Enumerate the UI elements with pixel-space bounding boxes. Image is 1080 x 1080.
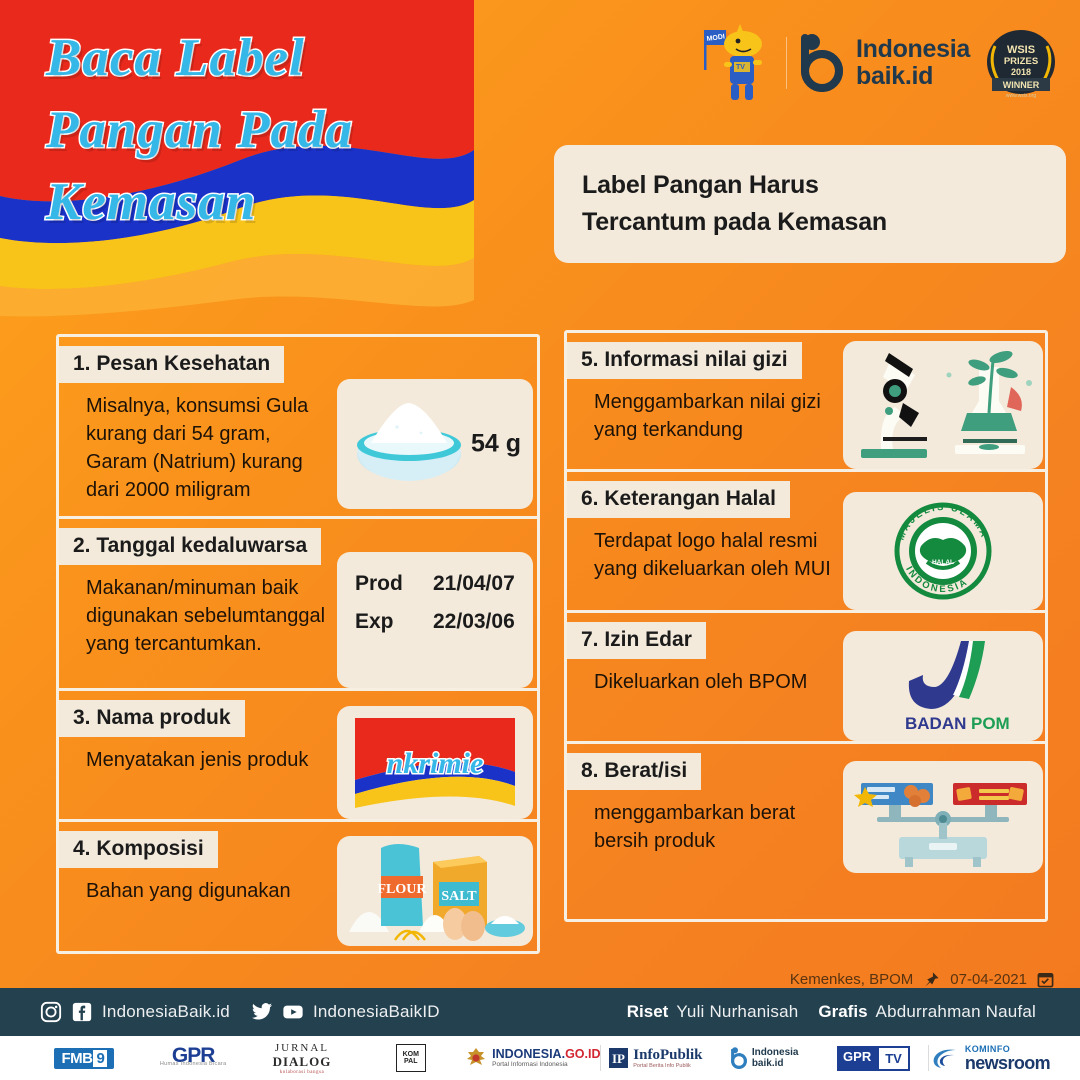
indonesiabaik-b-icon [801,33,847,93]
gpr-tagline: Humas Indonesia Bicara [160,1061,227,1067]
partner-kominfo-newsroom[interactable]: KOMINFO newsroom [929,1041,1050,1075]
exp-label: Exp [355,610,433,634]
item-3-text: 3. Nama produk Menyatakan jenis produk [59,691,337,819]
indonesiabaik-wordmark: Indonesia baik.id [856,36,970,90]
modi-mascot-icon: MODI TV DIGITAL [700,22,772,104]
item-6-chip: 6. Keterangan Halal [567,481,790,518]
item-4-text: 4. Komposisi Bahan yang digunakan [59,822,337,946]
list-item-7: 7. Izin Edar Dikeluarkan oleh BPOM BADAN… [567,610,1045,741]
badan-pom-text-1: BADAN [905,714,966,733]
item-8-text: 8. Berat/isi menggambarkan berat bersih … [567,744,843,873]
infographic-poster: Baca Label Pangan Pada Kemasan MODI TV D… [0,0,1080,1080]
social-handle-1: IndonesiaBaik.id [102,1002,230,1022]
partner-kompal[interactable]: KOM PAL [356,1041,465,1075]
title-line-3: Kemasan [46,166,486,238]
gpr-logo-text: GPR [160,1050,227,1061]
prod-value: 21/04/07 [433,572,515,596]
riset-name: Yuli Nurhanisah [676,1002,798,1022]
partner-jurnal-dialog[interactable]: JURNAL DIALOG kolaborasi bangsa [248,1041,357,1075]
source-date: 07-04-2021 [950,971,1027,988]
item-1-figure-label: 54 g [471,430,521,459]
instagram-icon[interactable] [40,1001,62,1023]
list-item-3: 3. Nama produk Menyatakan jenis produk n… [59,688,537,819]
title-line-1: Baca Label [46,22,486,94]
microscope-lab-illustration [843,341,1043,469]
svg-text:TV: TV [736,64,745,71]
svg-text:PRIZES: PRIZES [1004,56,1038,67]
item-6-text: 6. Keterangan Halal Terdapat logo halal … [567,472,843,610]
list-item-5: 5. Informasi nilai gizi Menggambarkan ni… [567,333,1045,469]
mui-halal-logo: HALAL MAJELIS ULAMA INDONESIA [843,492,1043,610]
item-1-text: 1. Pesan Kesehatan Misalnya, konsumsi Gu… [59,337,337,516]
item-7-text: 7. Izin Edar Dikeluarkan oleh BPOM [567,613,843,741]
ibsmall-line-2: baik.id [752,1058,799,1069]
brand-mark: nkrimie [349,716,521,809]
item-2-text: 2. Tanggal kedaluwarsa Makanan/minuman b… [59,519,337,688]
svg-text:WINNER: WINNER [1003,80,1040,90]
source-line: Kemenkes, BPOM 07-04-2021 [790,971,1054,988]
date-row-exp: Exp 22/03/06 [355,610,533,634]
newsroom-line-2: newsroom [965,1054,1050,1072]
salt-pack-label: SALT [441,889,477,904]
kompal-logo-text: KOM PAL [396,1044,426,1072]
jurnal-line-2: DIALOG [273,1054,332,1070]
goid-text: INDONESIA.GO.ID [492,1048,600,1061]
jurnal-line-1: JURNAL [273,1042,332,1054]
prod-label: Prod [355,572,433,596]
subtitle-banner: Label Pangan Harus Tercantum pada Kemasa… [554,145,1066,263]
infopublik-text: InfoPublik [633,1048,702,1063]
halal-center-text: HALAL [932,559,954,566]
header-logos: MODI TV DIGITAL [700,22,1058,104]
wsis-line-1: WSIS [1007,44,1035,56]
item-1-chip: 1. Pesan Kesehatan [59,346,284,383]
facebook-icon[interactable] [71,1001,93,1023]
wsis-prizes-2018-winner-badge-icon: WSIS PRIZES 2018 WINNER www.wsis.org [984,26,1058,100]
product-brand-label: nkrimie [337,706,533,819]
header-divider [786,37,787,89]
kominfo-icon [929,1045,959,1071]
partner-logos-bar: FMB9 GPR Humas Indonesia Bicara JURNAL D… [0,1036,1080,1080]
partner-infopublik[interactable]: IP InfoPublik Portal Berita Info Publik [601,1041,710,1075]
item-4-description: Bahan yang digunakan [59,868,337,905]
infopublik-mark-icon: IP [609,1048,628,1068]
list-item-1: 1. Pesan Kesehatan Misalnya, konsumsi Gu… [59,337,537,516]
item-5-chip: 5. Informasi nilai gizi [567,342,802,379]
gprtv-text-1: GPR [837,1046,877,1071]
item-2-description: Makanan/minuman baik digunakan sebelumta… [59,565,337,658]
social-footer: IndonesiaBaik.id IndonesiaBaikID Riset Y… [0,988,1080,1036]
item-4-chip: 4. Komposisi [59,831,218,868]
item-7-description: Dikeluarkan oleh BPOM [567,659,843,696]
item-1-description: Misalnya, konsumsi Gula kurang dari 54 g… [59,383,337,504]
pushpin-icon [923,971,940,988]
title-line-2: Pangan Pada [46,94,486,166]
badan-pom-logo: BADAN POM [843,631,1043,741]
youtube-icon[interactable] [282,1001,304,1023]
item-7-chip: 7. Izin Edar [567,622,706,659]
brand-line-1: Indonesia [856,36,970,63]
jurnal-line-3: kolaborasi bangsa [273,1070,332,1075]
date-row-prod: Prod 21/04/07 [355,572,533,596]
gprtv-text-2: TV [877,1046,910,1071]
exp-value: 22/03/06 [433,610,515,634]
item-8-chip: 8. Berat/isi [567,753,701,790]
list-item-2: 2. Tanggal kedaluwarsa Makanan/minuman b… [59,516,537,688]
svg-text:DIGITAL: DIGITAL [732,72,750,77]
banner-line-1: Label Pangan Harus [582,167,1038,204]
grafis-name: Abdurrahman Naufal [876,1002,1036,1022]
salt-bowl-illustration: 54 g [337,379,533,509]
social-handle-2: IndonesiaBaikID [313,1002,440,1022]
svg-text:www.wsis.org: www.wsis.org [1006,93,1037,99]
item-6-description: Terdapat logo halal resmi yang dikeluark… [567,518,843,583]
item-3-chip: 3. Nama produk [59,700,245,737]
riset-label: Riset [627,1002,669,1022]
ibsmall-line-1: Indonesia [752,1047,799,1058]
item-3-description: Menyatakan jenis produk [59,737,337,774]
partner-indonesia-go-id[interactable]: INDONESIA.GO.ID Portal Informasi Indones… [465,1041,600,1075]
left-column: 1. Pesan Kesehatan Misalnya, konsumsi Gu… [56,334,540,954]
brand-text: nkrimie [387,747,484,781]
right-column: 5. Informasi nilai gizi Menggambarkan ni… [564,330,1048,922]
item-5-description: Menggambarkan nilai gizi yang terkandung [567,379,843,444]
brand-line-2: baik.id [856,63,970,90]
badan-pom-text-2: POM [971,714,1010,733]
production-expiry-dates: Prod 21/04/07 Exp 22/03/06 [337,552,533,688]
svg-text:IP: IP [612,1051,625,1066]
item-8-description: menggambarkan berat bersih produk [567,790,843,855]
grafis-label: Grafis [818,1002,867,1022]
calendar-icon [1037,971,1054,988]
garuda-icon [465,1046,487,1070]
list-item-4: 4. Komposisi Bahan yang digunakan FLOUR … [59,819,537,946]
balance-scale-illustration [843,761,1043,873]
flour-pack-label: FLOUR [378,882,428,897]
list-item-6: 6. Keterangan Halal Terdapat logo halal … [567,469,1045,610]
credits: Riset Yuli Nurhanisah Grafis Abdurrahman… [627,1002,1080,1022]
twitter-icon[interactable] [251,1001,273,1023]
item-2-chip: 2. Tanggal kedaluwarsa [59,528,321,565]
partner-fmb9[interactable]: FMB9 [30,1041,139,1075]
ingredients-flour-salt-eggs: FLOUR SALT [337,836,533,946]
infopublik-tagline: Portal Berita Info Publik [633,1063,702,1069]
partner-gpr-tv[interactable]: GPR TV [819,1041,928,1075]
indonesiabaik-logo: Indonesia baik.id [801,33,970,93]
social-handles: IndonesiaBaik.id IndonesiaBaikID [0,1001,440,1023]
goid-tagline: Portal Informasi Indonesia [492,1061,600,1068]
fmb9-logo-text: FMB9 [54,1048,114,1069]
indonesiabaik-small-icon [731,1047,747,1069]
source-text: Kemenkes, BPOM [790,971,913,988]
partner-indonesiabaik[interactable]: Indonesia baik.id [710,1041,819,1075]
svg-text:2018: 2018 [1011,67,1031,77]
list-item-8: 8. Berat/isi menggambarkan berat bersih … [567,741,1045,873]
item-5-text: 5. Informasi nilai gizi Menggambarkan ni… [567,333,843,469]
page-title: Baca Label Pangan Pada Kemasan [46,22,486,238]
banner-line-2: Tercantum pada Kemasan [582,204,1038,241]
partner-gpr[interactable]: GPR Humas Indonesia Bicara [139,1041,248,1075]
